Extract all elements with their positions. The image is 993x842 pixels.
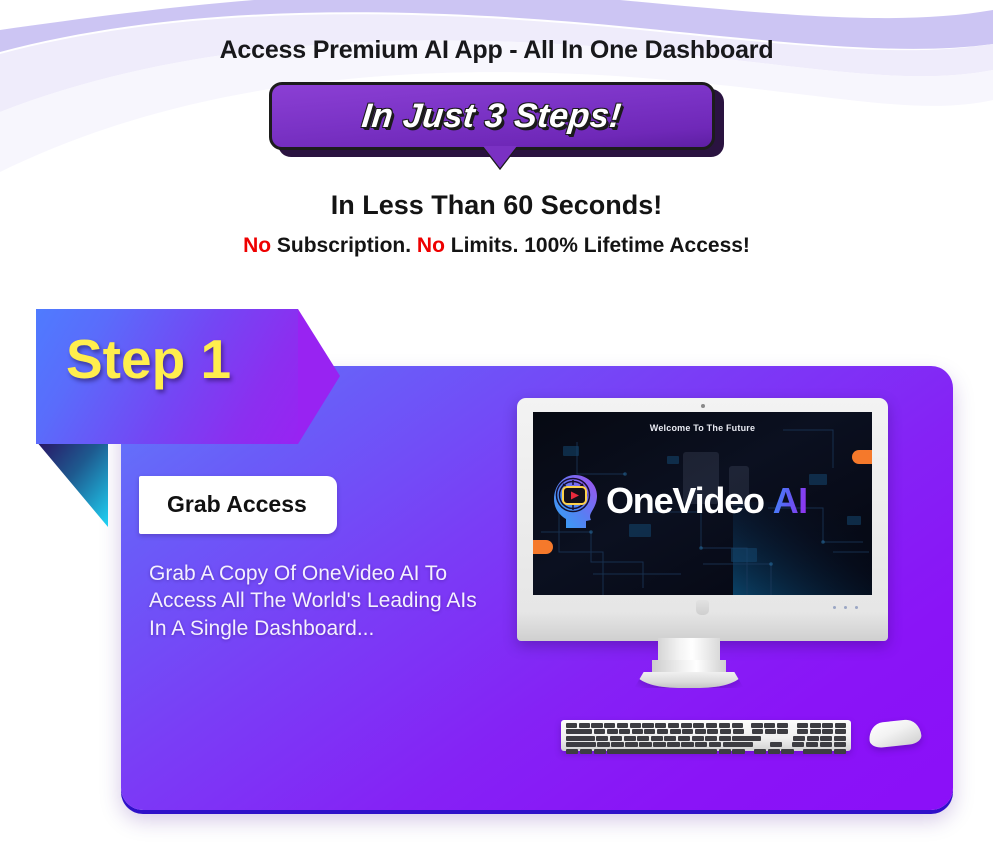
monitor-indicator-dots [833,606,858,609]
page-title: Access Premium AI App - All In One Dashb… [0,36,993,65]
step-description: Grab A Copy Of OneVideo AI To Access All… [149,560,499,642]
step-ribbon: Step 1 [36,309,336,539]
monitor-stand-base [635,672,743,688]
ribbon-arrow-point [298,309,340,444]
benefit-no-2: No [417,234,445,257]
page-root: Access Premium AI App - All In One Dashb… [0,0,993,842]
page-header: Access Premium AI App - All In One Dashb… [0,0,993,258]
benefit-text-1: Subscription. [271,234,417,257]
brain-head-play-icon [545,470,603,532]
benefit-text-2: Limits. 100% Lifetime Access! [445,234,750,257]
subheadline: In Less Than 60 Seconds! [0,190,993,221]
monitor-bezel: Welcome To The Future [517,398,888,641]
monitor-brand-icon [696,600,709,615]
step-number-label: Step 1 [66,327,231,391]
badge-body: In Just 3 Steps! [269,82,715,150]
desktop-computer-illustration: Welcome To The Future [517,398,897,688]
keyboard-illustration [561,720,851,751]
webcam-icon [701,404,705,408]
brand-name: OneVideo [606,480,764,522]
orange-accent-right [852,450,872,464]
steps-badge: In Just 3 Steps! [269,82,724,164]
keyboard-keys [566,723,846,748]
orange-accent-left [533,540,553,554]
monitor-chin [533,595,872,627]
screen-tagline: Welcome To The Future [533,423,872,433]
onevideo-ai-logo-lockup: OneVideo AI [545,470,808,532]
benefit-no-1: No [243,234,271,257]
monitor-screen: Welcome To The Future [533,412,872,595]
mouse-illustration [868,718,922,748]
benefits-line: No Subscription. No Limits. 100% Lifetim… [0,234,993,258]
brand-suffix: AI [773,480,808,522]
badge-label: In Just 3 Steps! [360,97,623,136]
ribbon-fold-corner [36,441,108,527]
badge-tail [483,146,517,168]
